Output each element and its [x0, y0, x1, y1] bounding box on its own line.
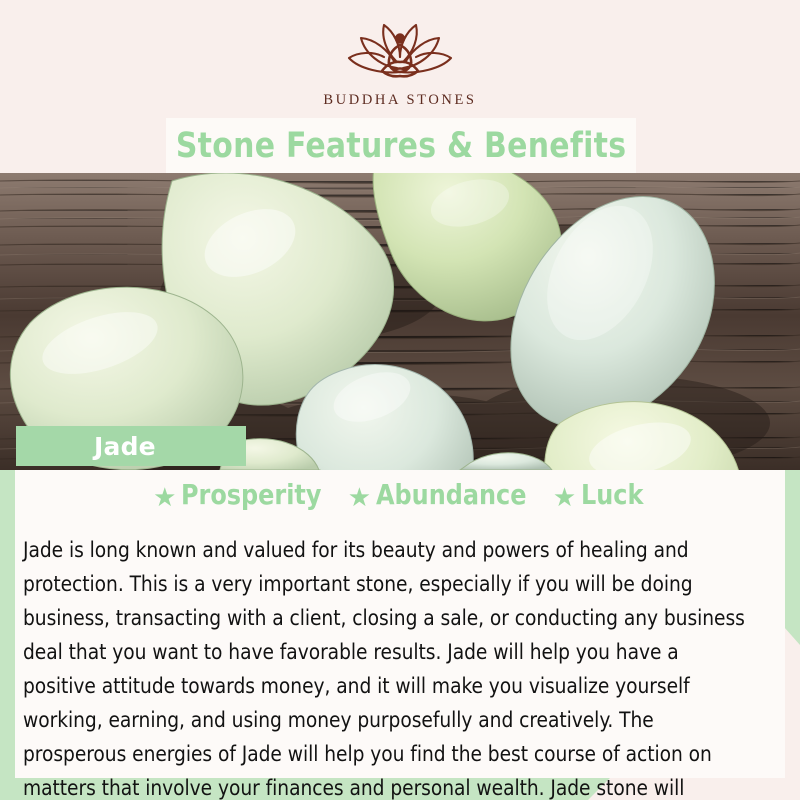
keyword-item: ★Prosperity — [153, 478, 329, 511]
page-title: Stone Features & Benefits — [176, 126, 627, 166]
stone-name-badge: Jade — [16, 426, 246, 466]
keyword-label: Luck — [581, 478, 643, 511]
brand-name: BUDDHA STONES — [0, 92, 800, 109]
content-area: ★Prosperity ★Abundance ★Luck Jade is lon… — [15, 470, 785, 778]
star-icon: ★ — [153, 484, 176, 510]
keyword-list: ★Prosperity ★Abundance ★Luck — [15, 478, 785, 511]
lotus-meditation-figure-icon — [325, 16, 475, 88]
stone-description: Jade is long known and valued for its be… — [23, 534, 756, 800]
brand-logo: BUDDHA STONES — [0, 16, 800, 109]
stone-name-label: Jade — [94, 432, 156, 461]
stone-info-card: BUDDHA STONES Stone Features & Benefits — [0, 0, 800, 800]
keyword-item: ★Abundance — [348, 478, 535, 511]
keyword-label: Prosperity — [181, 478, 321, 511]
star-icon: ★ — [553, 484, 576, 510]
keyword-item: ★Luck — [553, 478, 647, 511]
keyword-label: Abundance — [376, 478, 526, 511]
star-icon: ★ — [348, 484, 371, 510]
decorative-band-left-lower — [0, 463, 15, 783]
title-band: Stone Features & Benefits — [166, 118, 636, 173]
